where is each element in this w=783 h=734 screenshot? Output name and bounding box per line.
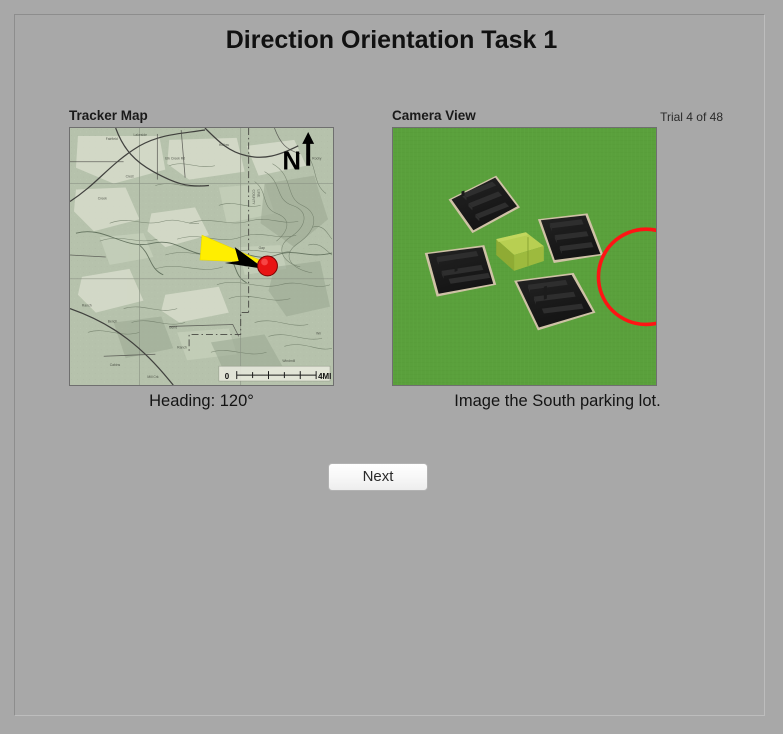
camera-view[interactable] — [392, 127, 657, 386]
next-button[interactable]: Next — [328, 463, 428, 491]
position-marker — [258, 256, 278, 276]
svg-text:Crest: Crest — [126, 175, 134, 179]
prompt-caption: Image the South parking lot. — [392, 392, 723, 411]
svg-text:N: N — [282, 148, 301, 176]
task-window: Direction Orientation Task 1 Tracker Map — [0, 0, 783, 734]
trial-counter: Trial 4 of 48 — [660, 110, 723, 124]
svg-text:Fairfield: Fairfield — [106, 137, 118, 141]
svg-text:Lakeside: Lakeside — [134, 133, 148, 137]
svg-text:Wn: Wn — [316, 331, 321, 335]
map-scale-bar: 0 4MI — [219, 366, 331, 381]
svg-text:Bend: Bend — [169, 325, 177, 329]
svg-text:Rocky: Rocky — [312, 157, 322, 161]
svg-text:Mill Crk: Mill Crk — [147, 375, 159, 379]
svg-text:Creek: Creek — [98, 196, 107, 200]
tracker-map-label: Tracker Map — [69, 108, 148, 123]
svg-text:Windmill: Windmill — [282, 359, 295, 363]
camera-view-label: Camera View — [392, 108, 476, 123]
svg-text:LINE: LINE — [257, 190, 261, 199]
page-title: Direction Orientation Task 1 — [0, 26, 783, 55]
svg-text:Ranch: Ranch — [177, 345, 187, 349]
svg-text:Ranch: Ranch — [82, 304, 92, 308]
heading-caption: Heading: 120° — [69, 392, 334, 411]
svg-text:Bench: Bench — [108, 319, 118, 323]
svg-text:Gap: Gap — [259, 246, 265, 250]
svg-text:COUNTY: COUNTY — [252, 190, 256, 206]
camera-view-graphic — [393, 128, 656, 385]
tracker-map-graphic: Fairfield Lakeside Elk Creek Rd Hollow C… — [70, 128, 333, 385]
svg-text:Hollow: Hollow — [219, 143, 230, 147]
svg-text:0: 0 — [225, 372, 230, 381]
svg-text:Cabins: Cabins — [110, 363, 121, 367]
svg-text:Elk Creek Rd: Elk Creek Rd — [165, 157, 185, 161]
tracker-map[interactable]: Fairfield Lakeside Elk Creek Rd Hollow C… — [69, 127, 334, 386]
svg-text:4MI: 4MI — [318, 372, 331, 381]
